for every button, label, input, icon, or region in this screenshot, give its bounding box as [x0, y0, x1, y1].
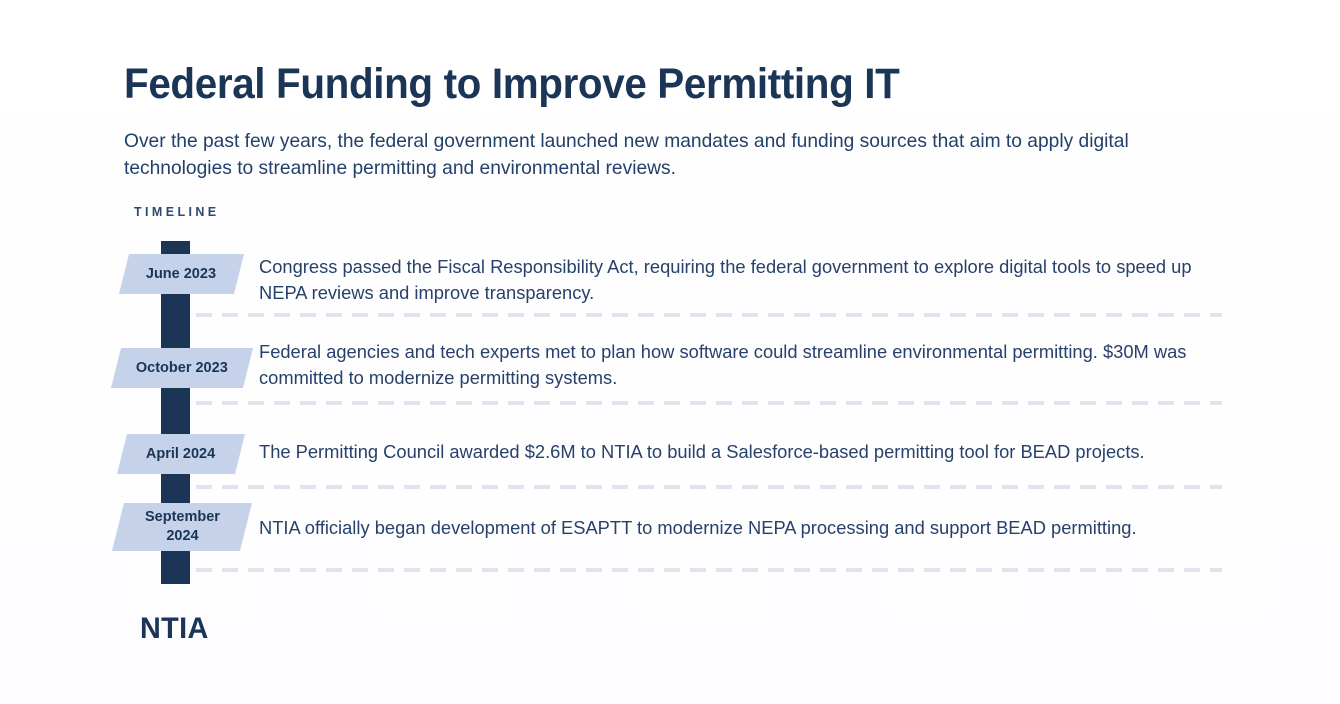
timeline-entry-divider	[196, 401, 1222, 405]
timeline-date-label: April 2024	[146, 445, 215, 464]
timeline-entry-text: The Permitting Council awarded $2.6M to …	[259, 439, 1234, 465]
ntia-logo: NTIA	[140, 612, 209, 646]
timeline-date-chip: April 2024	[117, 434, 245, 474]
timeline-entry-text: NTIA officially began development of ESA…	[259, 515, 1234, 541]
timeline-date-label: June 2023	[146, 265, 216, 284]
timeline-date-label: October 2023	[136, 359, 228, 378]
timeline-entry-divider	[196, 568, 1222, 572]
timeline-entry-divider	[196, 313, 1222, 317]
slide-canvas: Federal Funding to Improve Permitting IT…	[0, 0, 1340, 704]
timeline-date-chip: June 2023	[119, 254, 244, 294]
timeline-entry-divider	[196, 485, 1222, 489]
timeline-entry-text: Federal agencies and tech experts met to…	[259, 339, 1234, 390]
timeline-rows: June 2023 Congress passed the Fiscal Res…	[0, 0, 1340, 704]
timeline-date-label: September 2024	[145, 508, 220, 546]
timeline-date-chip: September 2024	[112, 503, 252, 551]
timeline-entry-text: Congress passed the Fiscal Responsibilit…	[259, 254, 1234, 305]
timeline-date-chip: October 2023	[111, 348, 253, 388]
